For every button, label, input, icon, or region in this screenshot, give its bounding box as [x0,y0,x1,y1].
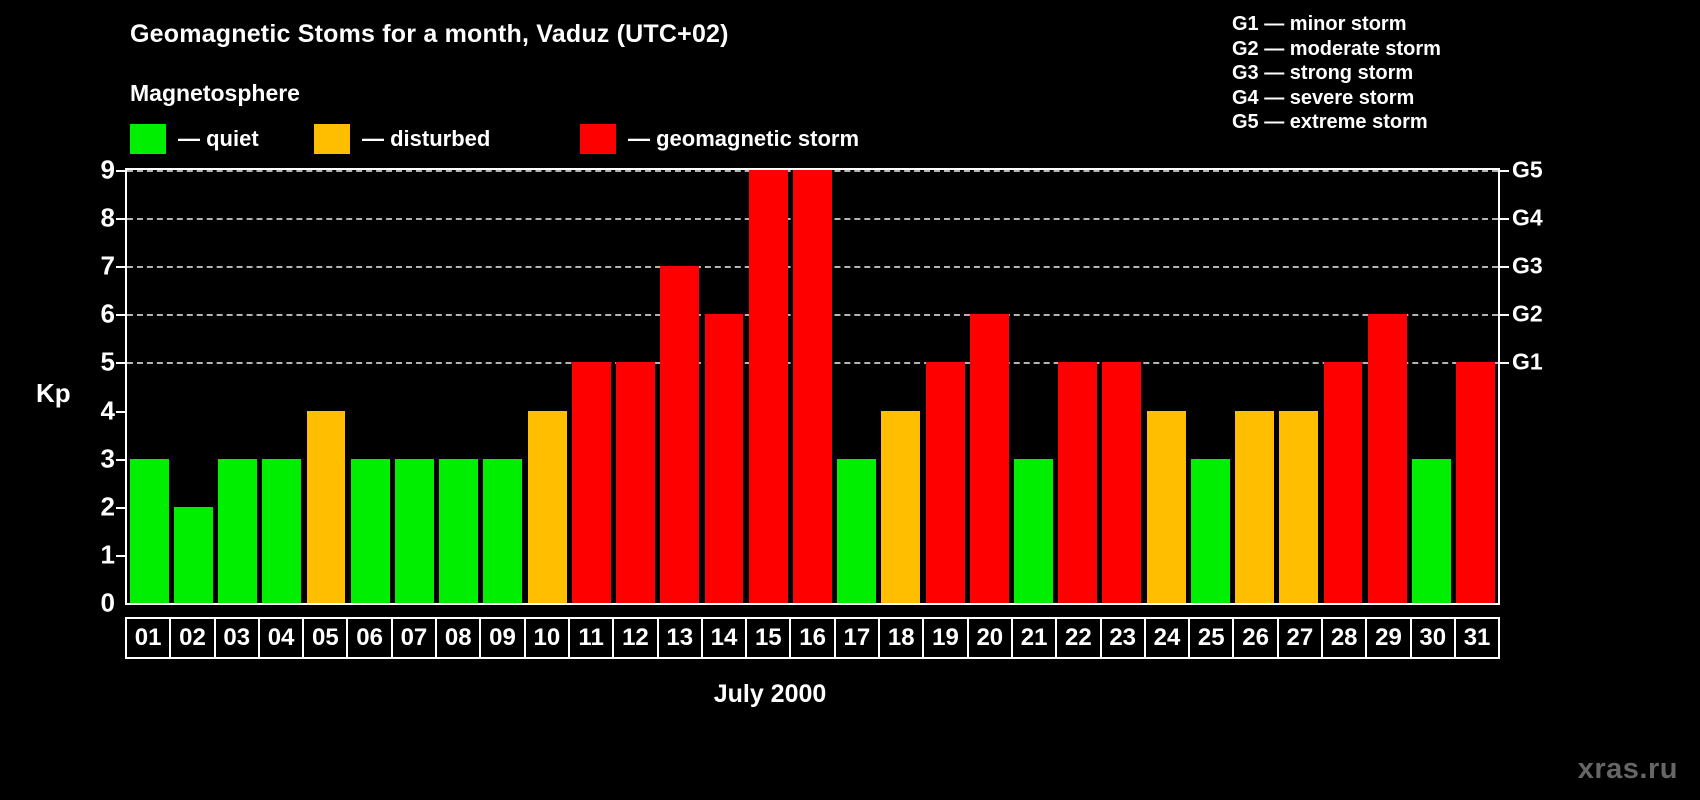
page-title: Geomagnetic Stoms for a month, Vaduz (UT… [130,20,729,49]
day-label-22[interactable]: 22 [1057,619,1101,657]
y-tick-label-8: 8 [60,203,115,234]
bar-day-26[interactable] [1235,411,1274,603]
legend-label-quiet: — quiet [178,124,259,154]
day-label-12[interactable]: 12 [614,619,658,657]
watermark: xras.ru [1578,753,1678,786]
day-label-26[interactable]: 26 [1234,619,1278,657]
bar-day-12[interactable] [616,362,655,603]
day-label-30[interactable]: 30 [1412,619,1456,657]
bar-day-16[interactable] [793,170,832,603]
bar-day-08[interactable] [439,459,478,603]
day-label-03[interactable]: 03 [216,619,260,657]
bar-cell[interactable] [392,170,436,603]
bar-day-17[interactable] [837,459,876,603]
g-axis-tick-g5 [1500,170,1509,172]
day-label-23[interactable]: 23 [1102,619,1146,657]
day-label-06[interactable]: 06 [348,619,392,657]
y-tick-6 [116,314,125,316]
y-tick-label-0: 0 [60,588,115,619]
legend: — quiet — disturbed — geomagnetic storm [130,124,859,156]
g-scale-entry-g2: G2 — moderate storm [1232,37,1441,62]
g-axis-tick-g4 [1500,218,1509,220]
bar-day-15[interactable] [749,170,788,603]
day-label-15[interactable]: 15 [747,619,791,657]
bar-cell[interactable] [658,170,702,603]
bar-day-06[interactable] [351,459,390,603]
y-tick-8 [116,218,125,220]
plot-area [125,168,1500,605]
y-tick-1 [116,555,125,557]
y-tick-label-7: 7 [60,251,115,282]
y-tick-5 [116,362,125,364]
g-axis-tick-g3 [1500,266,1509,268]
day-label-19[interactable]: 19 [924,619,968,657]
day-label-08[interactable]: 08 [437,619,481,657]
bar-cell[interactable] [1100,170,1144,603]
g-scale-entry-g5: G5 — extreme storm [1232,110,1441,135]
bar-cell[interactable] [1144,170,1188,603]
legend-item-disturbed: — disturbed [314,124,580,156]
day-label-29[interactable]: 29 [1367,619,1411,657]
g-axis-label-g3: G3 [1512,253,1543,280]
y-tick-label-2: 2 [60,491,115,522]
y-tick-label-1: 1 [60,539,115,570]
legend-swatch-storm [580,124,616,154]
bar-cell[interactable] [1454,170,1498,603]
day-label-25[interactable]: 25 [1190,619,1234,657]
legend-label-disturbed: — disturbed [362,124,490,154]
bar-day-05[interactable] [307,411,346,603]
bar-cell[interactable] [1365,170,1409,603]
day-label-10[interactable]: 10 [526,619,570,657]
bar-day-03[interactable] [218,459,257,603]
bar-day-20[interactable] [970,314,1009,603]
bar-cell[interactable] [1056,170,1100,603]
bar-series [127,170,1498,603]
x-axis-day-labels: 0102030405060708091011121314151617181920… [125,617,1500,659]
bar-cell[interactable] [967,170,1011,603]
bar-day-31[interactable] [1456,362,1495,603]
bar-cell[interactable] [481,170,525,603]
bar-cell[interactable] [171,170,215,603]
g-scale-entry-g3: G3 — strong storm [1232,61,1441,86]
bar-cell[interactable] [923,170,967,603]
bar-day-02[interactable] [174,507,213,603]
day-label-05[interactable]: 05 [304,619,348,657]
g-axis-label-g2: G2 [1512,301,1543,328]
y-tick-label-3: 3 [60,443,115,474]
bar-day-04[interactable] [262,459,301,603]
bar-day-09[interactable] [483,459,522,603]
y-tick-label-6: 6 [60,299,115,330]
g-axis-tick-g1 [1500,362,1509,364]
y-axis-labels: 0123456789 [60,168,115,605]
day-label-27[interactable]: 27 [1279,619,1323,657]
legend-swatch-quiet [130,124,166,154]
day-label-14[interactable]: 14 [703,619,747,657]
day-label-04[interactable]: 04 [260,619,304,657]
g-scale-entry-g1: G1 — minor storm [1232,12,1441,37]
y-tick-7 [116,266,125,268]
day-label-17[interactable]: 17 [836,619,880,657]
day-label-11[interactable]: 11 [570,619,614,657]
day-label-31[interactable]: 31 [1456,619,1498,657]
bar-day-21[interactable] [1014,459,1053,603]
bar-day-19[interactable] [926,362,965,603]
day-label-07[interactable]: 07 [393,619,437,657]
g-axis-tick-g2 [1500,314,1509,316]
bar-cell[interactable] [1321,170,1365,603]
g-axis-label-g1: G1 [1512,349,1543,376]
day-label-20[interactable]: 20 [969,619,1013,657]
bar-cell[interactable] [215,170,259,603]
g-scale-entry-g4: G4 — severe storm [1232,86,1441,111]
bar-day-22[interactable] [1058,362,1097,603]
legend-label-storm: — geomagnetic storm [628,124,859,154]
bar-day-27[interactable] [1279,411,1318,603]
day-label-21[interactable]: 21 [1013,619,1057,657]
bar-cell[interactable] [569,170,613,603]
y-tick-label-4: 4 [60,395,115,426]
day-label-18[interactable]: 18 [880,619,924,657]
bar-day-11[interactable] [572,362,611,603]
bar-cell[interactable] [525,170,569,603]
bar-cell[interactable] [1011,170,1055,603]
x-axis-title: July 2000 [0,680,1700,709]
bar-cell[interactable] [1188,170,1232,603]
g-scale-legend: G1 — minor storm G2 — moderate storm G3 … [1232,12,1441,135]
bar-cell[interactable] [790,170,834,603]
day-label-13[interactable]: 13 [659,619,703,657]
day-label-24[interactable]: 24 [1146,619,1190,657]
y-tick-2 [116,507,125,509]
bar-day-07[interactable] [395,459,434,603]
day-label-28[interactable]: 28 [1323,619,1367,657]
bar-cell[interactable] [879,170,923,603]
bar-cell[interactable] [746,170,790,603]
bar-cell[interactable] [304,170,348,603]
bar-cell[interactable] [1409,170,1453,603]
y-tick-label-5: 5 [60,347,115,378]
x-axis-title-text: July 2000 [714,680,827,708]
bar-cell[interactable] [437,170,481,603]
legend-item-quiet: — quiet [130,124,314,156]
bar-day-01[interactable] [130,459,169,603]
bar-day-13[interactable] [660,266,699,603]
bar-day-30[interactable] [1412,459,1451,603]
y-tick-3 [116,459,125,461]
legend-item-storm: — geomagnetic storm [580,124,859,156]
bar-day-18[interactable] [881,411,920,603]
bar-cell[interactable] [1232,170,1276,603]
bar-day-28[interactable] [1324,362,1363,603]
bar-day-23[interactable] [1102,362,1141,603]
y-tick-label-9: 9 [60,155,115,186]
day-label-02[interactable]: 02 [171,619,215,657]
bar-day-25[interactable] [1191,459,1230,603]
plot-inner [127,170,1498,603]
g-axis-label-g4: G4 [1512,205,1543,232]
bar-cell[interactable] [348,170,392,603]
day-label-16[interactable]: 16 [791,619,835,657]
bar-day-10[interactable] [528,411,567,603]
day-label-09[interactable]: 09 [481,619,525,657]
bar-cell[interactable] [260,170,304,603]
legend-heading: Magnetosphere [130,80,300,107]
bar-day-14[interactable] [705,314,744,603]
g-axis-labels: G1G2G3G4G5 [1512,168,1572,605]
legend-swatch-disturbed [314,124,350,154]
y-tick-9 [116,170,125,172]
bar-cell[interactable] [1277,170,1321,603]
bar-cell[interactable] [127,170,171,603]
day-label-01[interactable]: 01 [127,619,171,657]
bar-cell[interactable] [613,170,657,603]
bar-cell[interactable] [835,170,879,603]
bar-cell[interactable] [702,170,746,603]
bar-day-29[interactable] [1368,314,1407,603]
y-tick-4 [116,411,125,413]
g-axis-label-g5: G5 [1512,157,1543,184]
bar-day-24[interactable] [1147,411,1186,603]
